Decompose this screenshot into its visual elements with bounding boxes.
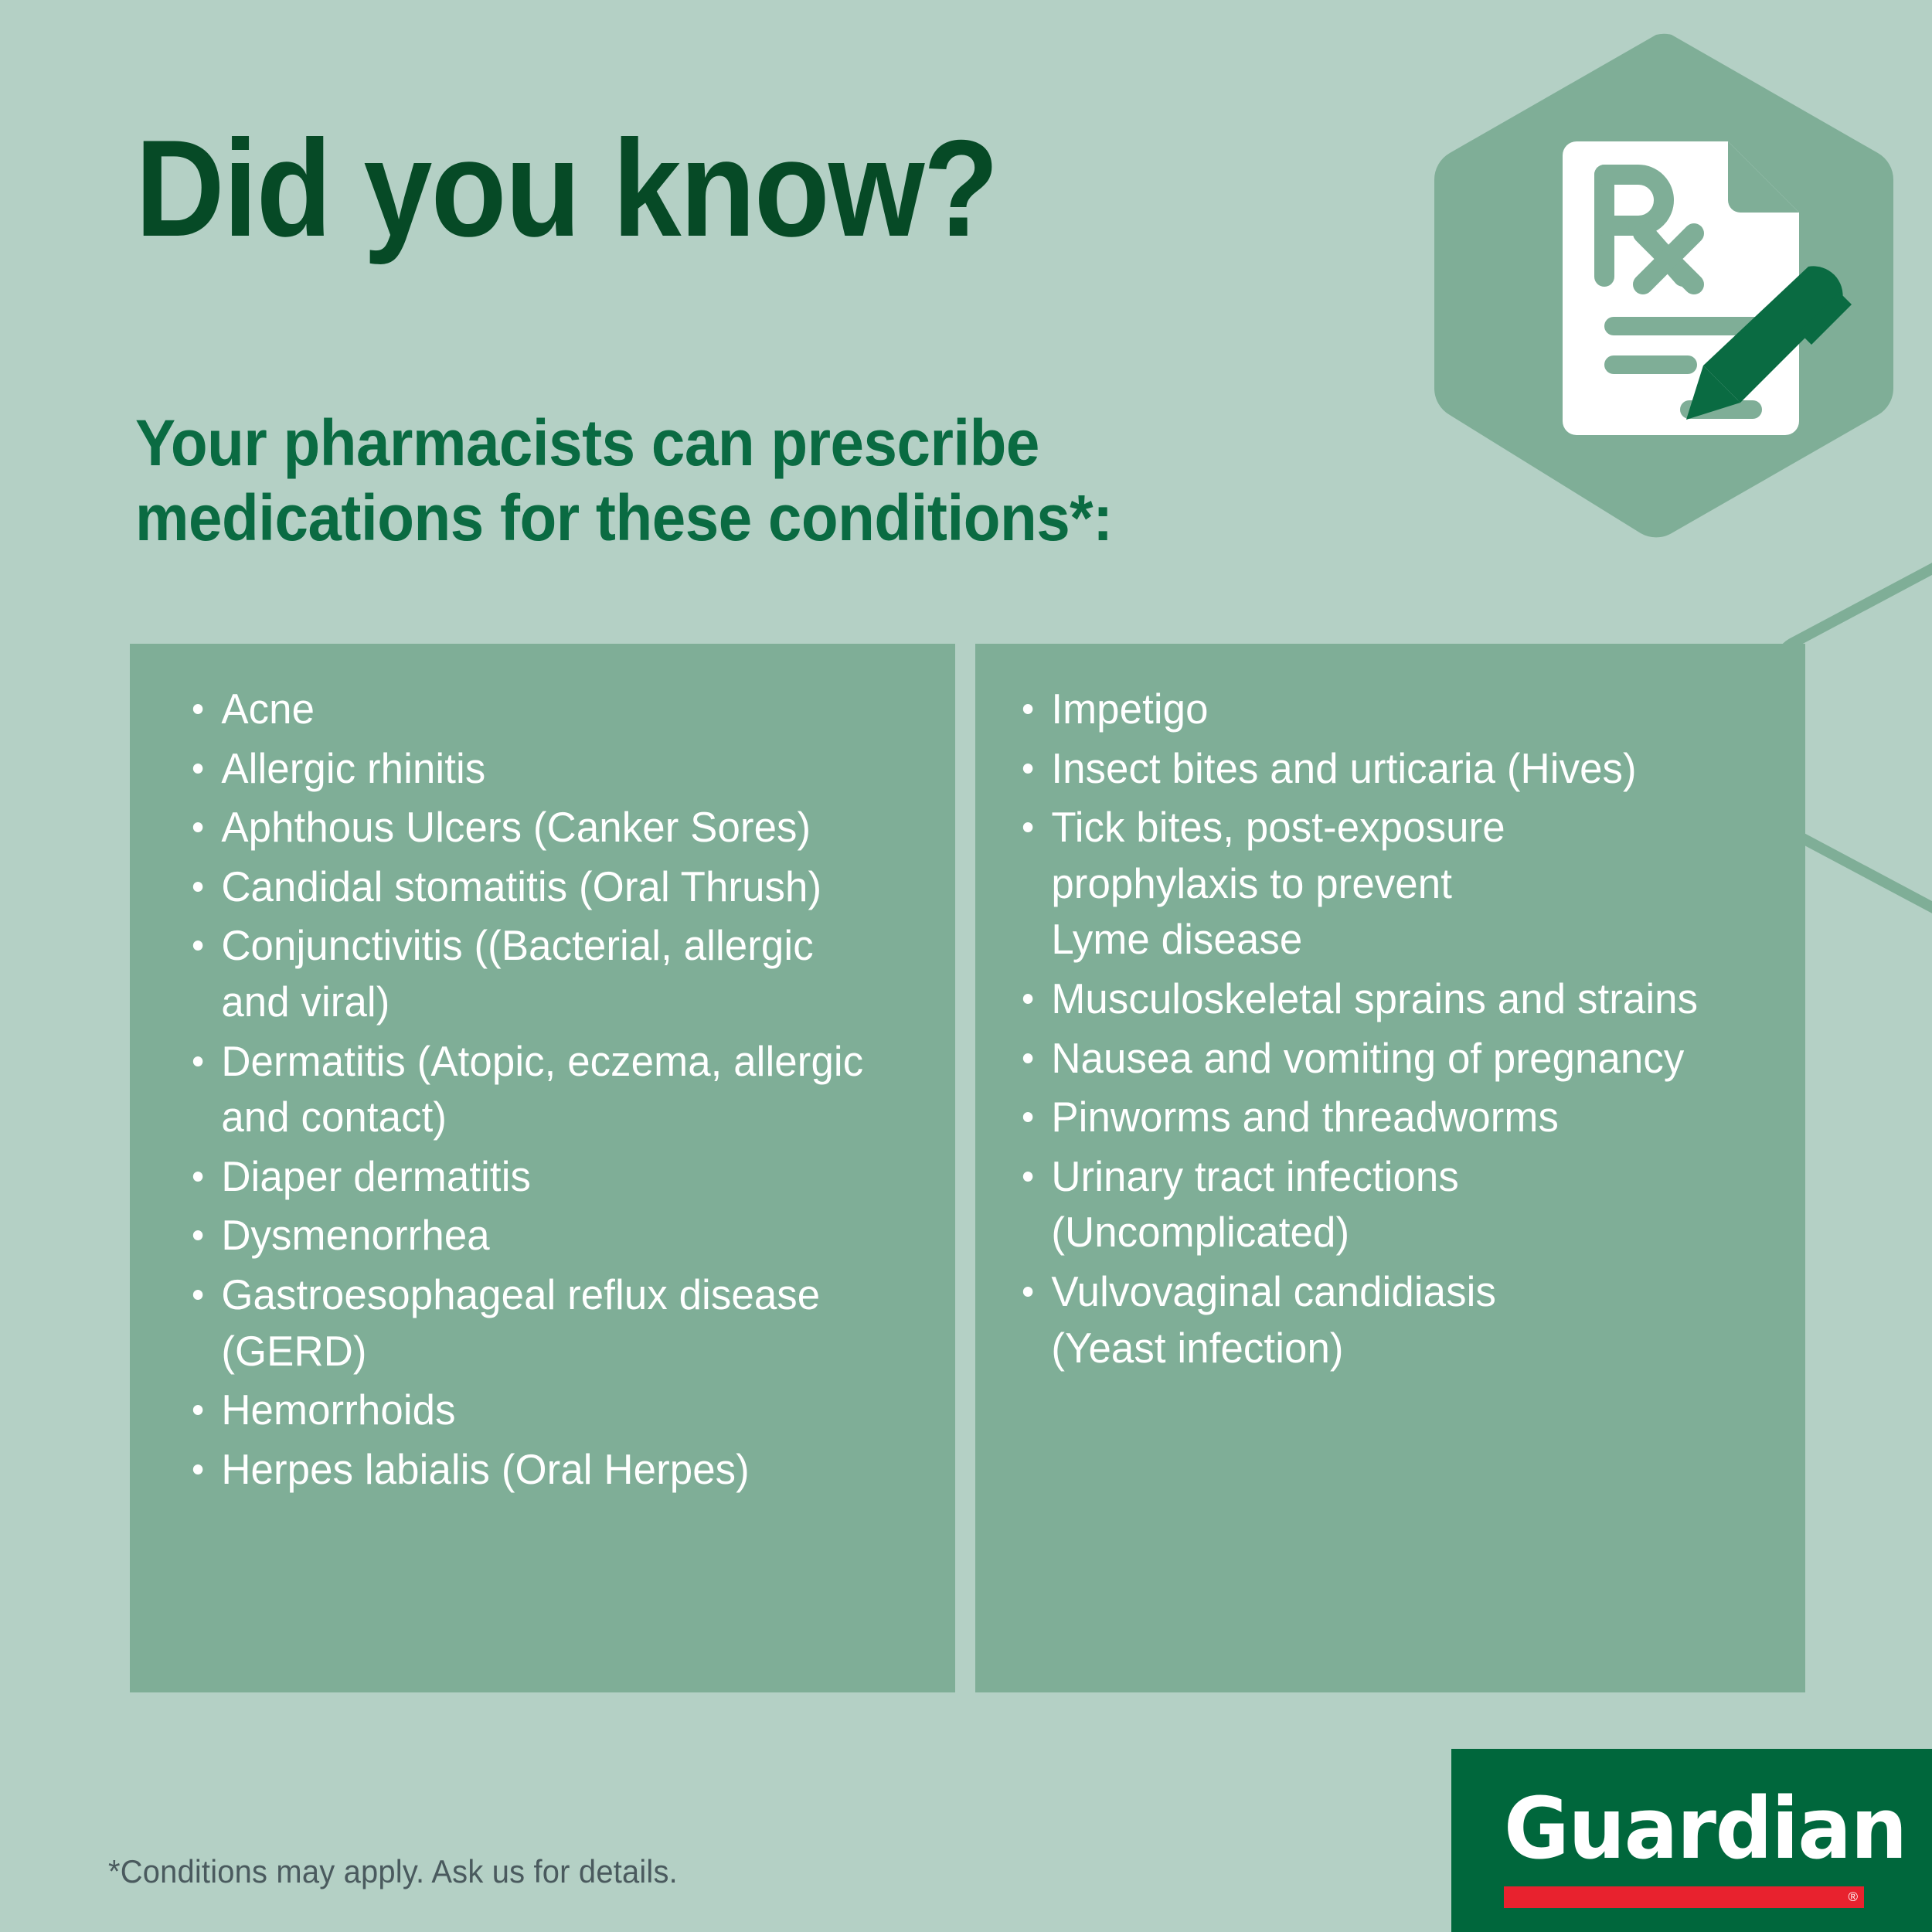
list-item: Nausea and vomiting of pregnancy [1020, 1030, 1762, 1087]
list-item: Gastroesophageal reflux disease (GERD) [190, 1267, 903, 1379]
list-item: Urinary tract infections (Uncomplicated) [1020, 1148, 1762, 1260]
poster-canvas: Did you know? Your pharmacists can presc… [0, 0, 1932, 1932]
document-line-2 [1604, 355, 1697, 374]
list-item: Allergic rhinitis [190, 740, 903, 797]
conditions-list-left: Acne Allergic rhinitis Aphthous Ulcers (… [190, 681, 932, 1500]
list-item: Impetigo [1020, 681, 1762, 737]
list-item: Acne [190, 681, 903, 737]
conditions-panel-right: Impetigo Insect bites and urticaria (Hiv… [975, 644, 1805, 1692]
registered-trademark-icon: ® [1848, 1889, 1858, 1905]
conditions-panel-left: Acne Allergic rhinitis Aphthous Ulcers (… [130, 644, 955, 1692]
list-item: Herpes labialis (Oral Herpes) [190, 1441, 903, 1498]
list-item: Conjunctivitis ((Bacterial, allergic and… [190, 917, 903, 1029]
list-item: Pinworms and threadworms [1020, 1089, 1762, 1145]
list-item: Hemorrhoids [190, 1382, 903, 1438]
page-subtitle: Your pharmacists can prescribe medicatio… [135, 406, 1113, 556]
page-title: Did you know? [135, 120, 998, 257]
guardian-red-bar: ® [1504, 1886, 1864, 1908]
list-item: Candidal stomatitis (Oral Thrush) [190, 859, 903, 915]
guardian-logo: Guardian ® [1451, 1749, 1932, 1932]
list-item: Vulvovaginal candidiasis (Yeast infectio… [1020, 1264, 1762, 1376]
guardian-wordmark: Guardian [1504, 1786, 1906, 1871]
list-item: Aphthous Ulcers (Canker Sores) [190, 799, 903, 855]
footnote-disclaimer: *Conditions may apply. Ask us for detail… [108, 1853, 678, 1890]
list-item: Diaper dermatitis [190, 1148, 903, 1205]
list-item: Tick bites, post-exposure prophylaxis to… [1020, 799, 1762, 968]
list-item: Insect bites and urticaria (Hives) [1020, 740, 1762, 797]
conditions-list-right: Impetigo Insect bites and urticaria (Hiv… [1020, 681, 1793, 1379]
rx-prescription-icon [1459, 31, 1884, 502]
list-item: Dermatitis (Atopic, eczema, allergic and… [190, 1033, 903, 1145]
document-fold-shape [1728, 141, 1799, 213]
list-item: Dysmenorrhea [190, 1207, 903, 1264]
list-item: Musculoskeletal sprains and strains [1020, 971, 1762, 1027]
